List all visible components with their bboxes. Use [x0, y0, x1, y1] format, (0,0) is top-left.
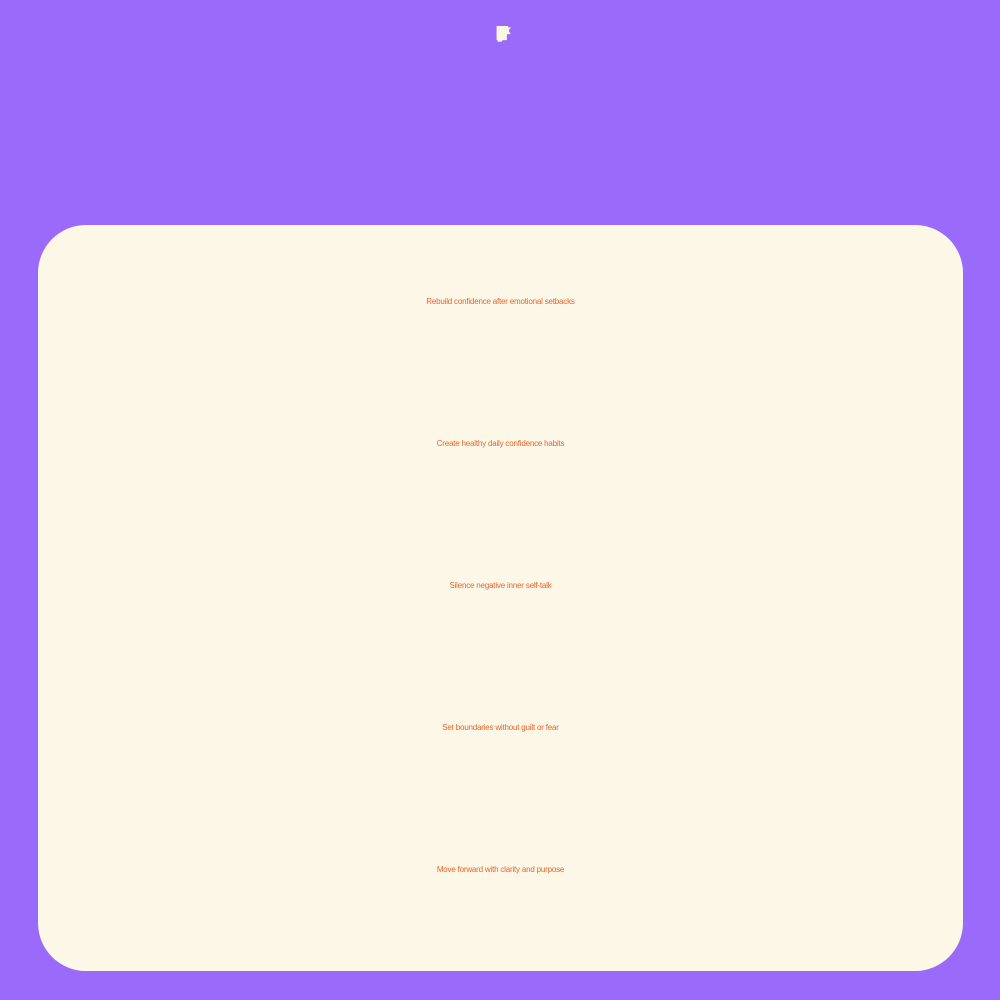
checklist-list: Rebuild confidence after emotional setba… — [38, 225, 963, 971]
checklist-card: Rebuild confidence after emotional setba… — [38, 225, 963, 971]
list-item: Create healthy daily confidence habits — [38, 440, 963, 448]
list-item: Move forward with clarity and purpose — [38, 866, 963, 874]
poster-canvas: how this checklist helps you Rebuild con… — [0, 0, 1000, 1000]
list-item: Silence negative inner self-talk — [38, 582, 963, 590]
page-title: how this checklist helps you — [0, 28, 1000, 41]
list-item: Set boundaries without guilt or fear — [38, 724, 963, 732]
page-title-line-2: helps you — [8, 34, 993, 40]
list-item: Rebuild confidence after emotional setba… — [38, 298, 963, 306]
